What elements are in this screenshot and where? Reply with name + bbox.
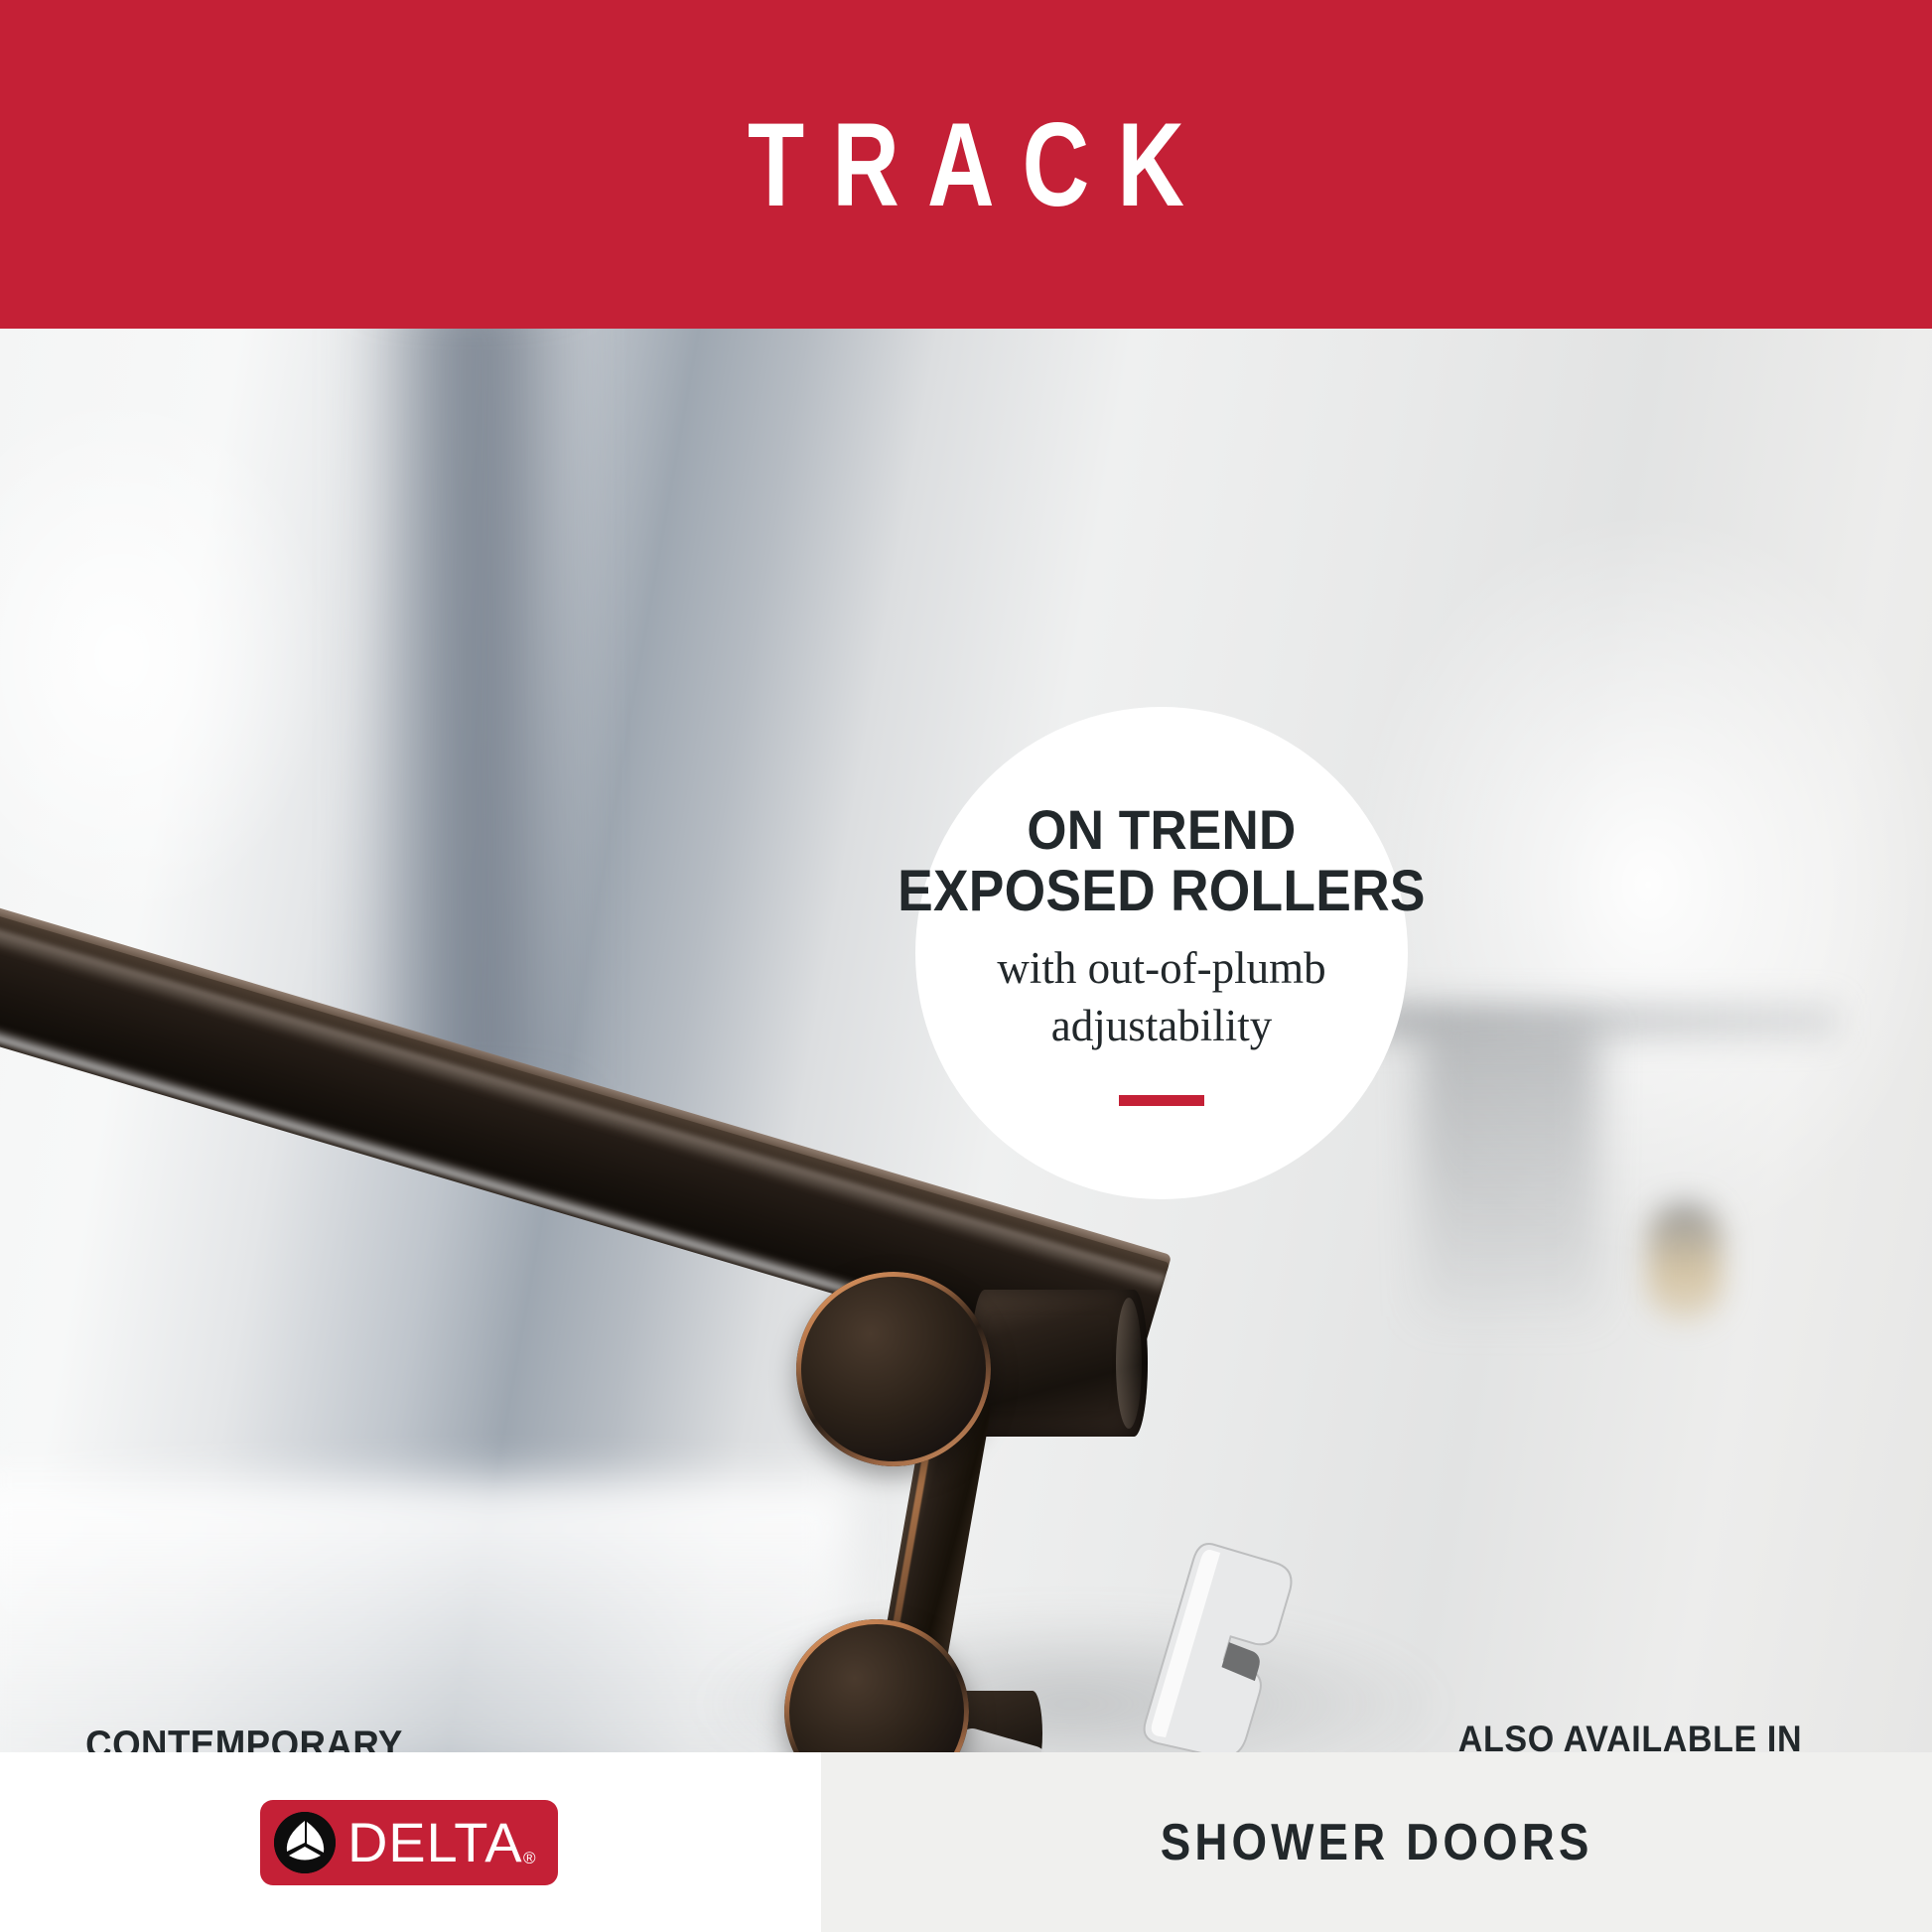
header-banner: TRACK: [0, 0, 1932, 329]
product-caption: CONTEMPORARY TRACK IN BRONZE: [76, 1721, 412, 1752]
delta-wordmark-text: DELTA: [347, 1811, 522, 1873]
delta-wordmark: DELTA®: [347, 1815, 536, 1870]
badge-headline-line2: EXPOSED ROLLERS: [897, 861, 1426, 923]
feature-callout-badge: ON TREND EXPOSED ROLLERS with out-of-plu…: [915, 707, 1408, 1199]
roller-hub: [971, 1290, 1148, 1437]
badge-headline-line1: ON TREND: [1027, 798, 1296, 861]
footer-category-panel: SHOWER DOORS: [821, 1752, 1932, 1932]
badge-subtitle: with out-of-plumb adjustability: [997, 940, 1325, 1054]
page-title: TRACK: [720, 105, 1212, 224]
bottle-blur: [1648, 1202, 1722, 1321]
niche-blur: [1420, 1029, 1598, 1316]
footer-brand-panel: DELTA®: [0, 1752, 821, 1932]
badge-subtitle-line2: adjustability: [997, 998, 1325, 1055]
badge-headline: ON TREND EXPOSED ROLLERS: [897, 800, 1426, 922]
product-marketing-card: TRACK: [0, 0, 1932, 1932]
delta-logo[interactable]: DELTA®: [260, 1800, 558, 1885]
footer: DELTA® SHOWER DOORS: [0, 1752, 1932, 1932]
finish-options: ALSO AVAILABLE IN CHROME BRUSHED NICKEL: [1382, 1719, 1878, 1752]
delta-triangle-logo-icon: [274, 1812, 336, 1873]
roller-wheel-top: [796, 1272, 991, 1466]
finish-options-title: ALSO AVAILABLE IN: [1402, 1719, 1859, 1752]
footer-category-label: SHOWER DOORS: [1161, 1813, 1593, 1872]
badge-subtitle-line1: with out-of-plumb: [997, 940, 1325, 998]
badge-divider-rule: [1119, 1095, 1204, 1106]
product-caption-line1: CONTEMPORARY: [76, 1721, 412, 1752]
exposed-roller-assembly: [784, 1272, 1211, 1752]
product-photo-stage: ON TREND EXPOSED ROLLERS with out-of-plu…: [0, 329, 1932, 1752]
registered-trademark-icon: ®: [523, 1850, 536, 1866]
